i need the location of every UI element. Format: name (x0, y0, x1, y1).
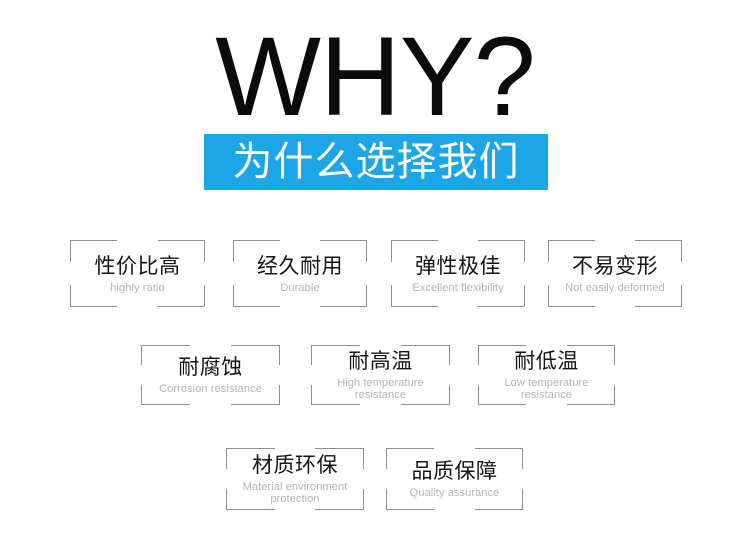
frame-right-bottom (681, 285, 682, 307)
frame-left-bottom (478, 385, 479, 405)
frame-left-bottom (226, 489, 227, 510)
feature-title: 耐低温 (514, 349, 579, 374)
feature-subtitle: Not easily deformed (565, 282, 665, 294)
frame-top-left (548, 240, 595, 241)
feature-box-price-ratio: 性价比高 highly ratio (70, 240, 205, 307)
frame-left-bottom (141, 385, 142, 405)
frame-left-top (311, 345, 312, 365)
frame-top-right (231, 345, 280, 346)
frame-left-top (548, 240, 549, 262)
frame-top-left (478, 345, 526, 346)
frame-bottom-right (478, 306, 525, 307)
frame-right-bottom (449, 385, 450, 405)
promo-banner-canvas: WHY? 为什么选择我们 性价比高 highly ratio 经久耐用 Dura… (0, 0, 750, 549)
frame-right-bottom (279, 385, 280, 405)
feature-subtitle: High temperature resistance (337, 377, 424, 401)
frame-bottom-right (231, 404, 280, 405)
frame-right-top (449, 345, 450, 365)
page-title: WHY? (0, 18, 750, 136)
frame-bottom-left (548, 306, 595, 307)
feature-title: 耐高温 (348, 349, 413, 374)
feature-subtitle: Quality assurance (410, 487, 500, 499)
frame-right-top (524, 240, 525, 262)
frame-bottom-left (391, 306, 438, 307)
frame-right-top (204, 240, 205, 262)
frame-top-right (478, 240, 525, 241)
frame-top-left (391, 240, 438, 241)
feature-title: 品质保障 (412, 459, 498, 484)
feature-box-quality-assurance: 品质保障 Quality assurance (386, 448, 523, 510)
frame-bottom-left (233, 306, 280, 307)
frame-bottom-left (386, 509, 434, 510)
feature-title: 耐腐蚀 (178, 355, 243, 380)
frame-bottom-right (401, 404, 450, 405)
frame-bottom-left (70, 306, 117, 307)
feature-box-flexibility: 弹性极佳 Excellent flexibility (391, 240, 525, 307)
frame-right-top (363, 448, 364, 469)
feature-subtitle: Excellent flexibility (412, 282, 503, 294)
frame-right-bottom (614, 385, 615, 405)
frame-right-top (366, 240, 367, 262)
frame-top-right (567, 345, 615, 346)
feature-box-corrosion-resistance: 耐腐蚀 Corrosion resistance (141, 345, 280, 405)
subtitle-banner: 为什么选择我们 (204, 134, 548, 190)
frame-right-top (522, 448, 523, 469)
feature-subtitle: Material environment protection (243, 481, 348, 505)
frame-bottom-right (567, 404, 615, 405)
frame-left-bottom (233, 285, 234, 307)
frame-top-right (401, 345, 450, 346)
feature-title: 不易变形 (572, 254, 658, 279)
frame-top-left (233, 240, 280, 241)
frame-right-top (681, 240, 682, 262)
frame-right-bottom (204, 285, 205, 307)
feature-subtitle: highly ratio (110, 282, 164, 294)
frame-top-right (635, 240, 682, 241)
frame-left-top (70, 240, 71, 262)
frame-left-bottom (391, 285, 392, 307)
frame-left-top (391, 240, 392, 262)
frame-bottom-right (320, 306, 367, 307)
subtitle-banner-label: 为什么选择我们 (233, 140, 520, 184)
frame-right-bottom (363, 489, 364, 510)
frame-left-bottom (70, 285, 71, 307)
feature-box-not-deformed: 不易变形 Not easily deformed (548, 240, 682, 307)
frame-bottom-right (158, 306, 205, 307)
frame-top-right (475, 448, 523, 449)
frame-left-bottom (386, 489, 387, 510)
frame-right-bottom (522, 489, 523, 510)
feature-title: 性价比高 (95, 254, 181, 279)
frame-left-top (226, 448, 227, 469)
frame-right-top (614, 345, 615, 365)
frame-top-right (315, 448, 364, 449)
feature-box-eco-material: 材质环保 Material environment protection (226, 448, 364, 510)
frame-top-left (70, 240, 117, 241)
frame-top-right (320, 240, 367, 241)
frame-bottom-left (311, 404, 360, 405)
frame-top-left (386, 448, 434, 449)
feature-subtitle: Low temperature resistance (504, 377, 588, 401)
frame-top-left (311, 345, 360, 346)
feature-title: 弹性极佳 (415, 254, 501, 279)
frame-bottom-right (635, 306, 682, 307)
frame-top-right (158, 240, 205, 241)
frame-left-bottom (311, 385, 312, 405)
frame-left-top (478, 345, 479, 365)
frame-bottom-left (226, 509, 275, 510)
feature-subtitle: Corrosion resistance (159, 383, 262, 395)
frame-left-top (141, 345, 142, 365)
feature-subtitle: Durable (280, 282, 319, 294)
frame-bottom-right (475, 509, 523, 510)
frame-bottom-right (315, 509, 364, 510)
frame-right-bottom (366, 285, 367, 307)
feature-title: 经久耐用 (257, 254, 343, 279)
feature-title: 材质环保 (252, 453, 338, 478)
frame-left-top (386, 448, 387, 469)
feature-box-low-temperature: 耐低温 Low temperature resistance (478, 345, 615, 405)
frame-top-left (226, 448, 275, 449)
frame-left-bottom (548, 285, 549, 307)
frame-right-bottom (524, 285, 525, 307)
frame-top-left (141, 345, 190, 346)
feature-box-durable: 经久耐用 Durable (233, 240, 367, 307)
frame-right-top (279, 345, 280, 365)
frame-bottom-left (478, 404, 526, 405)
frame-bottom-left (141, 404, 190, 405)
frame-left-top (233, 240, 234, 262)
feature-box-high-temperature: 耐高温 High temperature resistance (311, 345, 450, 405)
